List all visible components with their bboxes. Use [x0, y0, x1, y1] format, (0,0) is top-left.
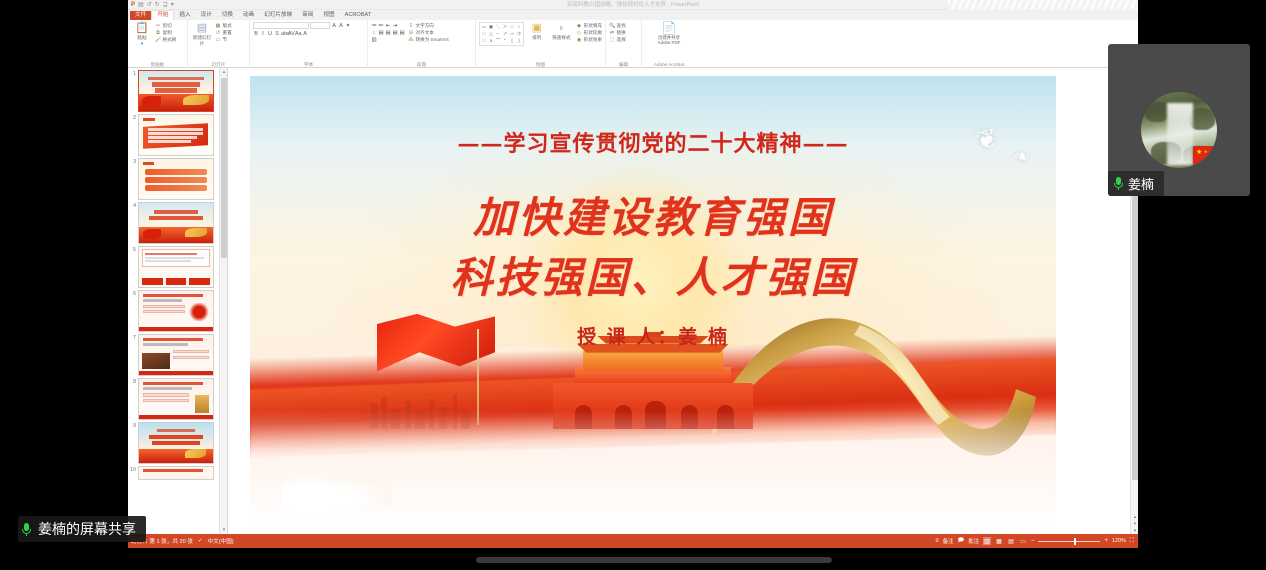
align-text-button[interactable]: ⊟ 对齐文本 [408, 30, 449, 36]
tab-acrobat[interactable]: ACROBAT [340, 11, 377, 21]
powerpoint-window: P ▤ ↺ ↻ ⊒ ▾ 实现科教兴国战略、强化现代化人才支撑 - PowerPo… [128, 0, 1138, 548]
ribbon-group-acrobat: 📄 创建并共享 Adobe PDF Adobe Acrobat [642, 20, 696, 68]
shape-icon[interactable]: ＼ [495, 24, 501, 30]
decrease-indent-icon[interactable]: ⇤ [385, 23, 391, 29]
reset-icon: ↺ [215, 30, 221, 36]
clear-formatting-icon[interactable]: ✦ [345, 23, 351, 29]
tab-design[interactable]: 设计 [196, 11, 217, 21]
replace-label: 替换 [617, 30, 626, 36]
participant-name: 姜楠 [1128, 174, 1154, 193]
slide-presenter: 授 课 人：姜 楠 [250, 322, 1056, 349]
font-name-input[interactable] [253, 22, 309, 29]
section-button[interactable]: ▭ 节 [215, 37, 232, 43]
avatar-rock [1189, 108, 1215, 130]
slide-number: 3 [129, 158, 136, 166]
ribbon-group-paragraph: ≔ ≕ ⇤ ⇥ ↕ ▤ ▤ ▤ ▤ ▥ [368, 20, 476, 68]
shape-icon[interactable]: ＞ [502, 24, 508, 30]
quick-access-toolbar[interactable]: P ▤ ↺ ↻ ⊒ ▾ [128, 0, 174, 10]
next-slide-icon[interactable]: ▾ [1132, 521, 1138, 527]
find-button[interactable]: 🔍 查找 [609, 23, 626, 29]
screen-share-viewer: P ▤ ↺ ↻ ⊒ ▾ 实现科教兴国战略、强化现代化人才支撑 - PowerPo… [0, 0, 1266, 570]
shape-icon[interactable]: □ [481, 38, 487, 44]
participant-video-tile[interactable]: ★ ★ ★ 姜楠 [1108, 44, 1250, 196]
shape-outline-icon: ◇ [576, 30, 582, 36]
underline-button[interactable]: U [267, 31, 273, 37]
tab-file[interactable]: 文件 [130, 11, 151, 21]
format-painter-label: 格式刷 [163, 37, 177, 43]
spellcheck-icon[interactable]: ✓ [198, 538, 203, 544]
thumbnail-scrollbar[interactable]: ▴ ▾ [219, 68, 227, 534]
reading-view-button[interactable]: ▤ [1007, 537, 1015, 545]
character-spacing-button[interactable]: AV [288, 31, 294, 37]
shape-icon[interactable]: ○ [516, 24, 522, 30]
shape-icon[interactable]: △ [488, 31, 494, 37]
slide-thumbnail-6[interactable]: 6 [128, 288, 220, 332]
tab-transitions[interactable]: 切换 [217, 11, 238, 21]
quick-styles-button[interactable]: ◗ 快速样式 [550, 22, 574, 41]
language-label[interactable]: 中文(中国) [208, 537, 234, 545]
gold-foliage [978, 394, 1048, 438]
paste-button[interactable]: 📋 粘贴 ▾ [131, 22, 153, 46]
create-share-pdf-button[interactable]: 📄 创建并共享 Adobe PDF [648, 22, 690, 45]
arrange-label: 排列 [532, 35, 541, 41]
acrobat-line2: Adobe PDF [658, 40, 681, 45]
quick-styles-icon: ◗ [558, 22, 565, 35]
slide-preview [138, 378, 214, 420]
screen-share-indicator: 姜楠的屏幕共享 [18, 516, 146, 542]
comments-label[interactable]: 批注 [968, 537, 979, 545]
reset-label: 重置 [223, 30, 232, 36]
numbering-icon[interactable]: ≕ [378, 23, 384, 29]
slide-thumbnail-4[interactable]: 4 [128, 200, 220, 244]
undo-icon[interactable]: ↺ [147, 0, 152, 10]
shape-outline-label: 形状轮廓 [584, 30, 602, 36]
slide-preview [138, 290, 214, 332]
arrange-icon: ▣ [532, 22, 542, 35]
previous-slide-icon[interactable]: ▴ [1132, 514, 1138, 520]
convert-smartart-button[interactable]: ⁂ 转换为 SmartArt [408, 37, 449, 43]
slide-stage: ❦ ❧ [228, 68, 1138, 534]
scroll-up-icon[interactable]: ▴ [221, 69, 227, 75]
copy-button[interactable]: ⧉ 复制 [155, 30, 176, 36]
format-painter-icon: 🖌 [155, 37, 161, 43]
slide-number: 1 [129, 70, 136, 78]
notes-label[interactable]: 备注 [943, 537, 954, 545]
new-slide-label: 新建幻灯片 [191, 35, 213, 46]
zoom-slider[interactable] [1038, 541, 1100, 542]
notes-icon[interactable]: ≡ [935, 538, 939, 544]
text-direction-label: 文字方向 [416, 23, 434, 29]
ribbon-group-font: A A ✦ B I U S abc AV Aa A 字体 [250, 20, 368, 68]
tab-slideshow[interactable]: 幻灯片放映 [259, 11, 297, 21]
shape-icon[interactable]: ▣ [488, 24, 494, 30]
clipboard-icon: 📋 [135, 22, 149, 35]
shadow-button[interactable]: S [274, 31, 280, 37]
slide-thumbnail-10[interactable]: 10 [128, 464, 220, 480]
slide-number: 6 [129, 290, 136, 298]
slide-subtitle: ——学习宣传贯彻党的二十大精神—— [250, 126, 1056, 158]
microphone-icon[interactable] [22, 523, 31, 536]
new-slide-button[interactable]: ▤ 新建幻灯片 [191, 22, 213, 46]
slide-thumbnail-3[interactable]: 3 [128, 156, 220, 200]
chevron-down-icon[interactable]: ▾ [141, 41, 143, 47]
section-label: 节 [223, 37, 228, 43]
ribbon-group-clipboard: 📋 粘贴 ▾ ✂ 剪切 ⧉ 复制 � [128, 20, 188, 68]
new-slide-icon: ▤ [197, 22, 207, 35]
select-label: 选择 [617, 37, 626, 43]
shape-fill-icon: ◆ [576, 23, 582, 29]
slide-preview [138, 334, 214, 376]
slide-preview [138, 202, 214, 244]
search-icon: 🔍 [609, 23, 615, 29]
strikethrough-button[interactable]: abc [281, 31, 287, 37]
arrange-button[interactable]: ▣ 排列 [527, 22, 547, 41]
slide-title-line2: 科技强国、人才强国 [250, 244, 1056, 305]
tab-home[interactable]: 开始 [151, 10, 174, 21]
cloud-left [282, 476, 392, 514]
ppt-logo-icon: P [131, 0, 135, 10]
text-direction-button[interactable]: ↧ 文字方向 [408, 23, 449, 29]
shape-icon[interactable]: ↺ [516, 31, 522, 37]
avatar-waterfall [1167, 103, 1193, 165]
bottom-bar [0, 550, 1266, 570]
scissors-icon: ✂ [155, 23, 161, 29]
avatar-rock [1145, 102, 1169, 122]
status-bar: 幻灯片 第 1 张，共 20 张 ✓ 中文(中国) ≡ 备注 🗩 批注 ▥ ▦ … [128, 534, 1138, 548]
copy-label: 复制 [163, 30, 172, 36]
shape-icon[interactable]: } [516, 38, 522, 44]
tab-animations[interactable]: 动画 [238, 11, 259, 21]
layout-label: 版式 [223, 23, 232, 29]
align-right-icon[interactable]: ▤ [392, 30, 398, 36]
shape-effects-button[interactable]: ◉ 形状效果 [576, 37, 602, 43]
ribbon-group-slides: ▤ 新建幻灯片 ▦ 版式 ↺ 重置 ▭ [188, 20, 250, 68]
normal-view-button[interactable]: ▥ [983, 537, 991, 545]
slide-number: 2 [129, 114, 136, 122]
title-bar: P ▤ ↺ ↻ ⊒ ▾ 实现科教兴国战略、强化现代化人才支撑 - PowerPo… [128, 0, 1138, 10]
tab-insert[interactable]: 插入 [174, 11, 195, 21]
replace-icon: ⇄ [609, 30, 615, 36]
shape-icon[interactable]: ⌃ [502, 38, 508, 44]
reset-button[interactable]: ↺ 重置 [215, 30, 232, 36]
font-size-input[interactable] [310, 22, 330, 29]
layout-button[interactable]: ▦ 版式 [215, 23, 232, 29]
slide-thumbnail-1[interactable]: 1 [128, 68, 220, 112]
slide-preview [138, 158, 214, 200]
shape-outline-button[interactable]: ◇ 形状轮廓 [576, 30, 602, 36]
section-icon: ▭ [215, 37, 221, 43]
decrease-font-icon[interactable]: A [338, 23, 344, 29]
shape-icon[interactable]: ▭ [481, 24, 487, 30]
shapes-gallery[interactable]: ▭ ▣ ＼ ＞ □ ○ □ △ ⌐ ↗ ⇨ ↺ □ ↳ ⌒ [479, 22, 524, 46]
shape-icon[interactable]: { [509, 38, 515, 44]
slide-thumbnail-7[interactable]: 7 [128, 332, 220, 376]
slide-thumbnail-5[interactable]: 5 [128, 244, 220, 288]
bottom-indicator[interactable] [476, 557, 832, 563]
ribbon-tabs[interactable]: 文件 开始 插入 设计 切换 动画 幻灯片放映 审阅 视图 ACROBAT [128, 10, 1138, 20]
slide-number: 5 [129, 246, 136, 254]
slide-thumbnail-2[interactable]: 2 [128, 112, 220, 156]
slide-preview [138, 422, 214, 464]
avatar: ★ ★ ★ [1141, 92, 1217, 168]
status-right: ≡ 备注 🗩 批注 ▥ ▦ ▤ ▭ − + 120% ⛶ [935, 536, 1138, 546]
cut-button[interactable]: ✂ 剪切 [155, 23, 176, 29]
slide-number: 7 [129, 334, 136, 342]
china-flag-badge: ★ ★ ★ [1193, 146, 1217, 164]
scrollbar-thumb[interactable] [221, 78, 227, 258]
window-title: 实现科教兴国战略、强化现代化人才支撑 - PowerPoint [567, 0, 699, 10]
select-button[interactable]: ⬚ 选择 [609, 37, 626, 43]
align-text-label: 对齐文本 [416, 30, 434, 36]
tab-view[interactable]: 视图 [318, 11, 339, 21]
zoom-out-button[interactable]: − [1031, 538, 1035, 544]
slide-thumbnail-9[interactable]: 9 [128, 420, 220, 464]
participant-name-bar: 姜楠 [1108, 171, 1164, 196]
comments-icon[interactable]: 🗩 [958, 536, 965, 546]
smartart-label: 转换为 SmartArt [416, 37, 449, 43]
scroll-down-icon[interactable]: ▾ [221, 527, 227, 533]
line-spacing-icon[interactable]: ↕ [371, 30, 377, 36]
shape-effects-label: 形状效果 [584, 37, 602, 43]
font-color-button[interactable]: A [302, 31, 308, 37]
slide-number: 8 [129, 378, 136, 386]
tab-review[interactable]: 审阅 [297, 11, 318, 21]
columns-icon[interactable]: ▥ [371, 37, 377, 43]
slide-number: 4 [129, 202, 136, 210]
bullets-icon[interactable]: ≔ [371, 23, 377, 29]
shape-icon[interactable]: □ [481, 31, 487, 37]
zoom-level[interactable]: 120% [1112, 538, 1126, 544]
copy-icon: ⧉ [155, 30, 161, 36]
smartart-icon: ⁂ [408, 37, 414, 43]
shape-effects-icon: ◉ [576, 37, 582, 43]
shape-fill-button[interactable]: ◆ 形状填充 [576, 23, 602, 29]
slideshow-button[interactable]: ▭ [1019, 537, 1027, 545]
slideshow-icon[interactable]: ⊒ [163, 0, 168, 10]
italic-button[interactable]: I [260, 31, 266, 37]
screen-share-label: 姜楠的屏幕共享 [38, 519, 136, 539]
justify-icon[interactable]: ▤ [399, 30, 405, 36]
zoom-in-button[interactable]: + [1104, 538, 1108, 544]
shape-icon[interactable]: ⇨ [509, 31, 515, 37]
text-direction-icon: ↧ [408, 23, 414, 29]
shape-fill-label: 形状填充 [584, 23, 602, 29]
shape-icon[interactable]: ↗ [502, 31, 508, 37]
flag-star: ★ [1206, 153, 1210, 160]
increase-font-icon[interactable]: A [331, 23, 337, 29]
align-center-icon[interactable]: ▤ [385, 30, 391, 36]
slide-thumbnail-8[interactable]: 8 [128, 376, 220, 420]
current-slide[interactable]: ❦ ❧ [250, 76, 1056, 528]
slide-preview [138, 70, 214, 112]
chevron-down-icon[interactable]: ▾ [171, 0, 174, 10]
flag-star: ★ [1196, 149, 1202, 156]
align-text-icon: ⊟ [408, 30, 414, 36]
fit-slide-icon[interactable]: ⛶ [1130, 538, 1134, 545]
title-bar-decoration [948, 0, 1138, 10]
shape-icon[interactable]: ⌐ [495, 31, 501, 37]
slide-number: 10 [129, 466, 136, 474]
save-icon[interactable]: ▤ [138, 0, 144, 10]
shape-icon[interactable]: ⌒ [495, 38, 501, 44]
redo-icon[interactable]: ↻ [155, 0, 160, 10]
quick-styles-label: 快速样式 [552, 35, 570, 41]
ribbon-group-drawing: ▭ ▣ ＼ ＞ □ ○ □ △ ⌐ ↗ ⇨ ↺ □ ↳ ⌒ [476, 20, 606, 68]
zoom-slider-handle[interactable] [1074, 538, 1076, 545]
align-left-icon[interactable]: ▤ [378, 30, 384, 36]
adobe-pdf-icon: 📄 [662, 22, 677, 35]
ribbon-group-editing: 🔍 查找 ⇄ 替换 ⬚ 选择 编辑 [606, 20, 642, 68]
shape-icon[interactable]: □ [509, 24, 515, 30]
select-icon: ⬚ [609, 37, 615, 43]
format-painter-button[interactable]: 🖌 格式刷 [155, 37, 176, 43]
gate-body [583, 351, 723, 371]
slide-thumbnail-pane[interactable]: 1 2 [128, 68, 228, 534]
cut-label: 剪切 [163, 23, 172, 29]
replace-button[interactable]: ⇄ 替换 [609, 30, 626, 36]
slide-title-line1: 加快建设教育强国 [250, 184, 1056, 245]
slide-preview [138, 466, 214, 480]
shape-icon[interactable]: ↳ [488, 38, 494, 44]
find-label: 查找 [617, 23, 626, 29]
bold-button[interactable]: B [253, 31, 259, 37]
slide-preview [138, 114, 214, 156]
slide-preview [138, 246, 214, 288]
layout-icon: ▦ [215, 23, 221, 29]
change-case-button[interactable]: Aa [295, 31, 301, 37]
workspace: 1 2 [128, 68, 1138, 534]
ribbon: 📋 粘贴 ▾ ✂ 剪切 ⧉ 复制 � [128, 20, 1138, 68]
slide-number: 9 [129, 422, 136, 430]
microphone-icon[interactable] [1114, 177, 1123, 190]
thumbnail-list: 1 2 [128, 68, 220, 480]
slide-sorter-button[interactable]: ▦ [995, 537, 1003, 545]
increase-indent-icon[interactable]: ⇥ [392, 23, 398, 29]
